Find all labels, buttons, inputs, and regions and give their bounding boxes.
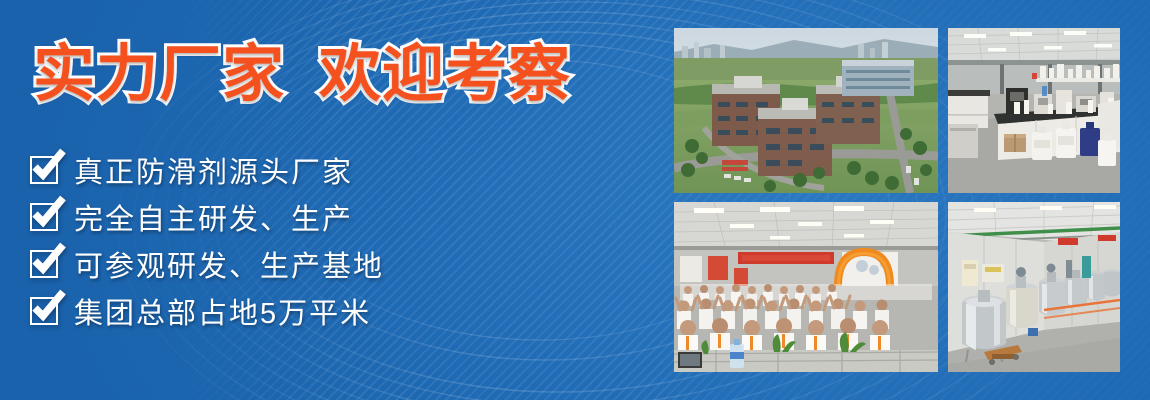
photo-production-line — [948, 202, 1120, 372]
feature-list: 真正防滑剂源头厂家 完全自主研发、生产 可参观研发、生产基地 — [30, 146, 384, 334]
list-item: 集团总部占地5万平米 — [30, 287, 384, 334]
list-item-label: 可参观研发、生产基地 — [74, 243, 384, 285]
headline-part-1: 实力厂家 — [33, 40, 285, 109]
list-item-label: 集团总部占地5万平米 — [74, 290, 371, 332]
checkbox-checked-icon — [30, 297, 58, 325]
checkbox-checked-icon — [30, 203, 58, 231]
checkbox-checked-icon — [30, 250, 58, 278]
photo-laboratory — [948, 28, 1120, 193]
list-item-label: 完全自主研发、生产 — [74, 196, 353, 238]
list-item-label: 真正防滑剂源头厂家 — [74, 149, 353, 191]
photo-office-staff — [674, 202, 938, 372]
photo-gallery — [674, 28, 1120, 372]
list-item: 真正防滑剂源头厂家 — [30, 146, 384, 193]
checkbox-checked-icon — [30, 156, 58, 184]
list-item: 完全自主研发、生产 — [30, 193, 384, 240]
photo-aerial-campus — [674, 28, 938, 193]
page-title: 实力厂家欢迎考察 — [33, 44, 571, 106]
promo-banner: 实力厂家欢迎考察 真正防滑剂源头厂家 完全自主研发、生产 — [0, 0, 1150, 400]
headline-part-2: 欢迎考察 — [319, 40, 571, 109]
left-content-column: 实力厂家欢迎考察 真正防滑剂源头厂家 完全自主研发、生产 — [0, 0, 655, 400]
list-item: 可参观研发、生产基地 — [30, 240, 384, 287]
